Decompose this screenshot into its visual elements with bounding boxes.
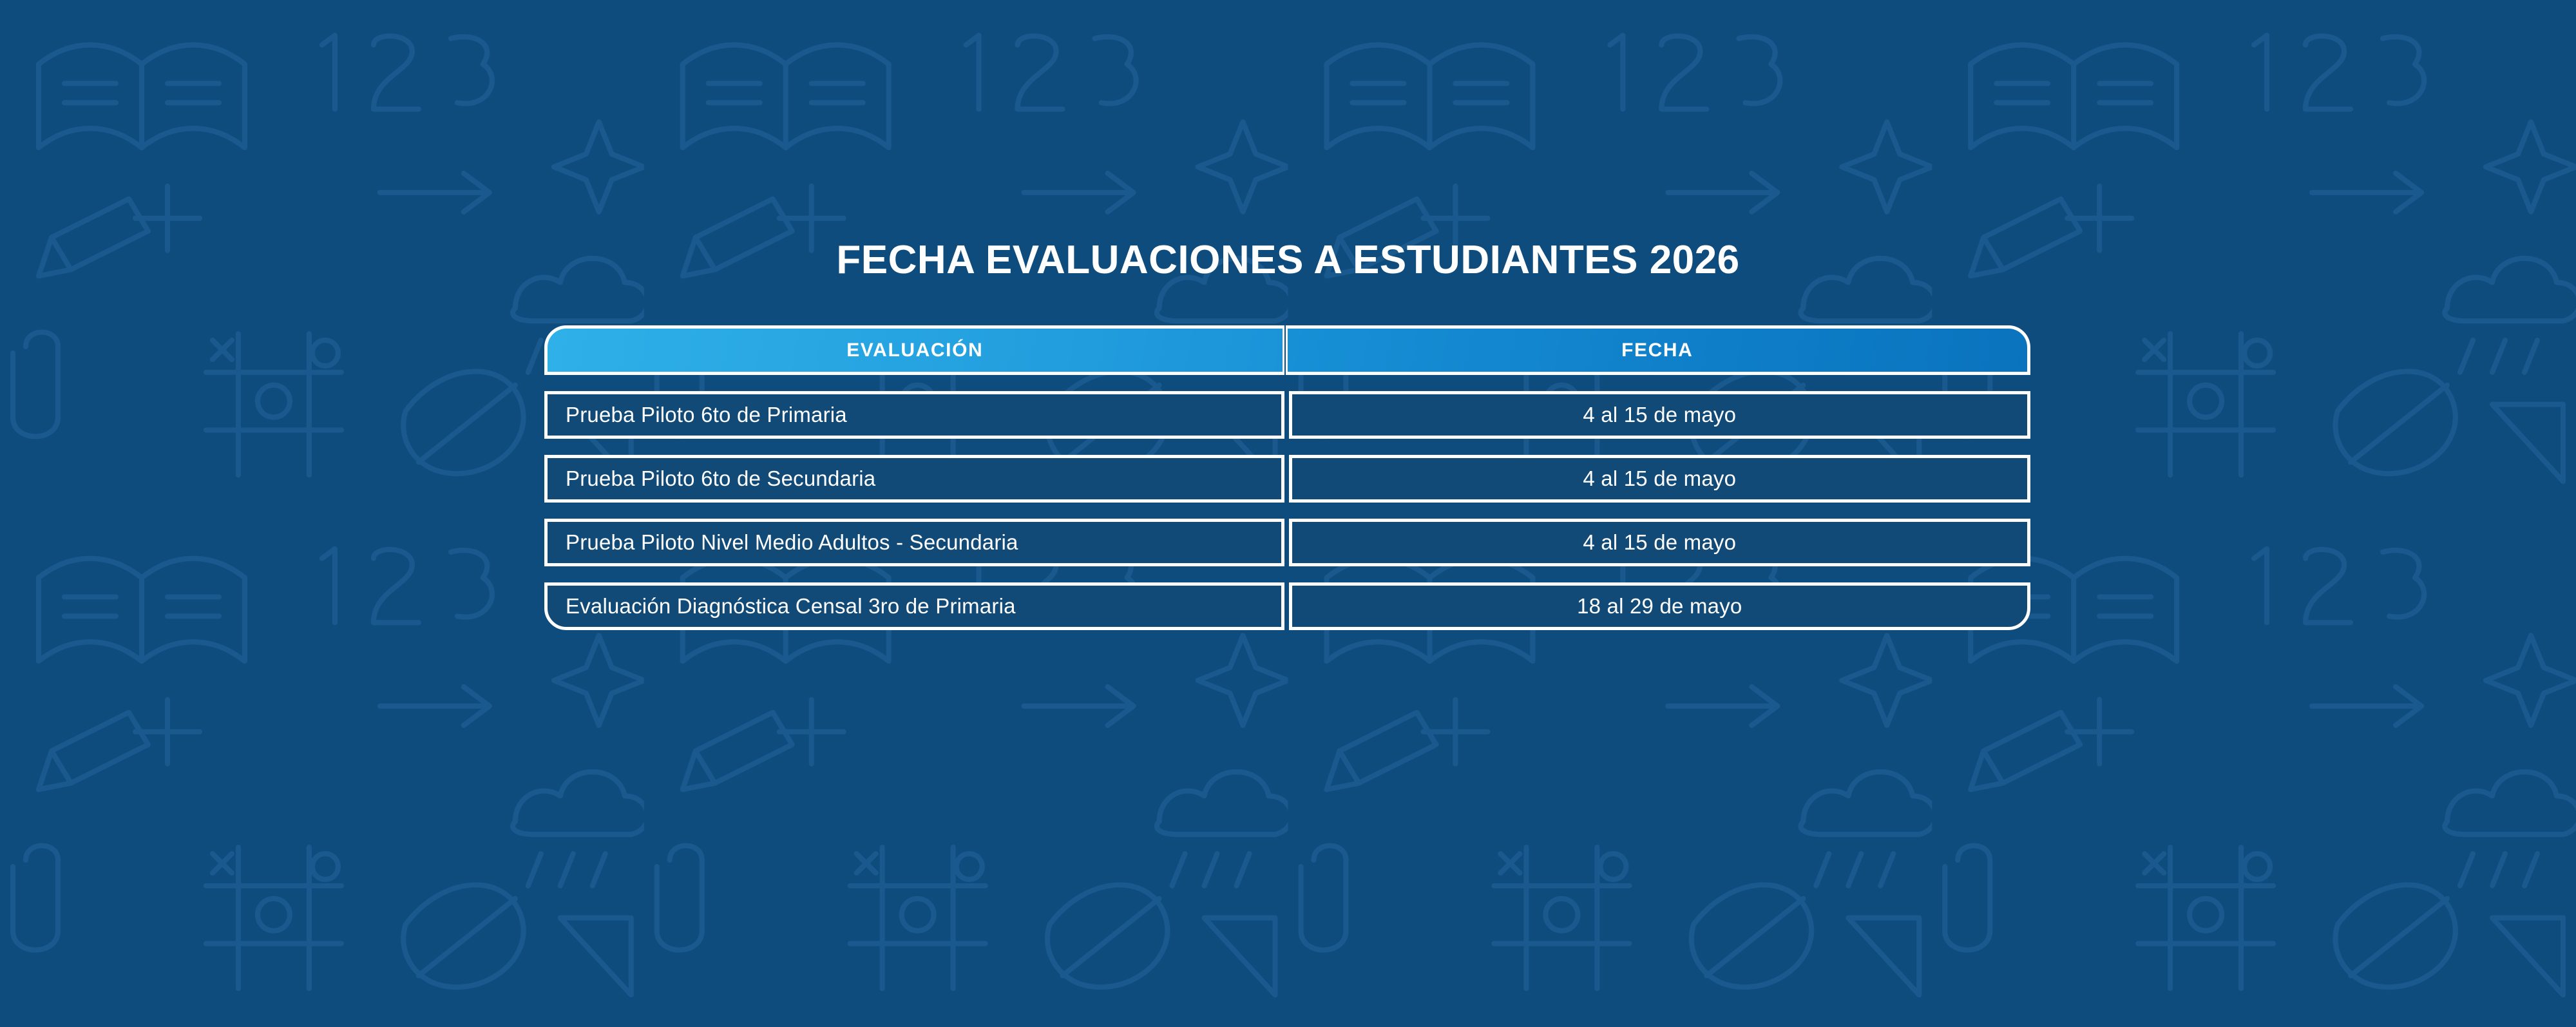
table-row: Prueba Piloto 6to de Secundaria 4 al 15 … <box>544 455 2030 503</box>
table-row: Evaluación Diagnóstica Censal 3ro de Pri… <box>544 582 2030 630</box>
table-row: Prueba Piloto Nivel Medio Adultos - Secu… <box>544 519 2030 566</box>
cell-fecha: 4 al 15 de mayo <box>1289 519 2030 566</box>
column-header-evaluacion: EVALUACIÓN <box>544 325 1284 375</box>
page-title: FECHA EVALUACIONES A ESTUDIANTES 2026 <box>0 238 2576 282</box>
cell-evaluacion: Prueba Piloto 6to de Primaria <box>544 391 1284 439</box>
poster-content: FECHA EVALUACIONES A ESTUDIANTES 2026 EV… <box>0 0 2576 1027</box>
table-header-row: EVALUACIÓN FECHA <box>544 325 2030 375</box>
cell-fecha: 18 al 29 de mayo <box>1289 582 2030 630</box>
cell-evaluacion: Prueba Piloto 6to de Secundaria <box>544 455 1284 503</box>
cell-fecha: 4 al 15 de mayo <box>1289 455 2030 503</box>
cell-evaluacion: Evaluación Diagnóstica Censal 3ro de Pri… <box>544 582 1284 630</box>
column-header-fecha: FECHA <box>1286 325 2030 375</box>
evaluation-schedule-table: EVALUACIÓN FECHA Prueba Piloto 6to de Pr… <box>544 325 2030 630</box>
table-row: Prueba Piloto 6to de Primaria 4 al 15 de… <box>544 391 2030 439</box>
cell-evaluacion: Prueba Piloto Nivel Medio Adultos - Secu… <box>544 519 1284 566</box>
cell-fecha: 4 al 15 de mayo <box>1289 391 2030 439</box>
